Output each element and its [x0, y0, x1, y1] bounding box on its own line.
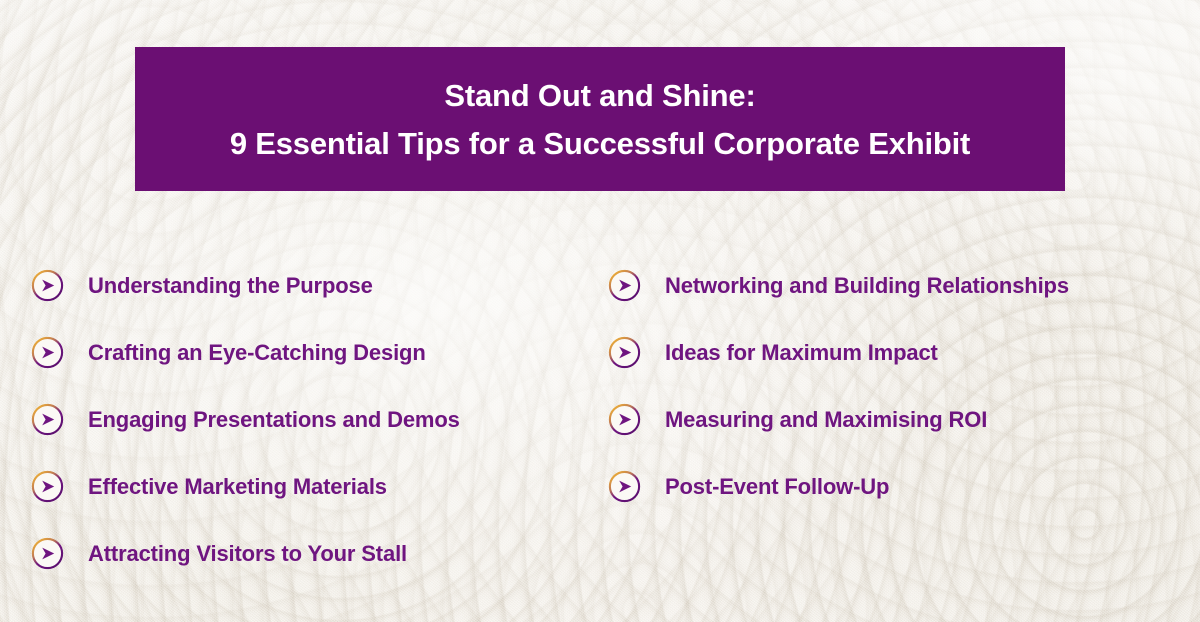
- list-item[interactable]: Crafting an Eye-Catching Design: [31, 319, 460, 386]
- list-item-label: Post-Event Follow-Up: [665, 476, 889, 498]
- infographic-poster: Stand Out and Shine: 9 Essential Tips fo…: [0, 0, 1200, 622]
- topics-list: Understanding the Purpose: [0, 252, 1200, 602]
- list-item[interactable]: Post-Event Follow-Up: [608, 453, 1069, 520]
- list-item-label: Ideas for Maximum Impact: [665, 342, 938, 364]
- list-item-label: Understanding the Purpose: [88, 275, 373, 297]
- list-item[interactable]: Understanding the Purpose: [31, 252, 460, 319]
- list-item-label: Effective Marketing Materials: [88, 476, 387, 498]
- chevron-right-circle-icon: [608, 269, 641, 302]
- list-item[interactable]: Attracting Visitors to Your Stall: [31, 520, 460, 587]
- title-line-1: Stand Out and Shine:: [444, 80, 755, 111]
- chevron-right-circle-icon: [31, 470, 64, 503]
- chevron-right-circle-icon: [31, 537, 64, 570]
- chevron-right-circle-icon: [31, 336, 64, 369]
- title-line-2: 9 Essential Tips for a Successful Corpor…: [230, 128, 970, 159]
- list-item-label: Attracting Visitors to Your Stall: [88, 543, 407, 565]
- list-item-label: Engaging Presentations and Demos: [88, 409, 460, 431]
- list-item[interactable]: Ideas for Maximum Impact: [608, 319, 1069, 386]
- list-item[interactable]: Networking and Building Relationships: [608, 252, 1069, 319]
- list-item-label: Networking and Building Relationships: [665, 275, 1069, 297]
- list-item[interactable]: Engaging Presentations and Demos: [31, 386, 460, 453]
- title-banner: Stand Out and Shine: 9 Essential Tips fo…: [135, 47, 1065, 191]
- chevron-right-circle-icon: [608, 403, 641, 436]
- list-item[interactable]: Effective Marketing Materials: [31, 453, 460, 520]
- list-item-label: Crafting an Eye-Catching Design: [88, 342, 426, 364]
- chevron-right-circle-icon: [31, 269, 64, 302]
- topics-left-column: Understanding the Purpose: [31, 252, 460, 587]
- chevron-right-circle-icon: [608, 336, 641, 369]
- list-item[interactable]: Measuring and Maximising ROI: [608, 386, 1069, 453]
- list-item-label: Measuring and Maximising ROI: [665, 409, 987, 431]
- chevron-right-circle-icon: [608, 470, 641, 503]
- chevron-right-circle-icon: [31, 403, 64, 436]
- topics-right-column: Networking and Building Relationships: [608, 252, 1069, 520]
